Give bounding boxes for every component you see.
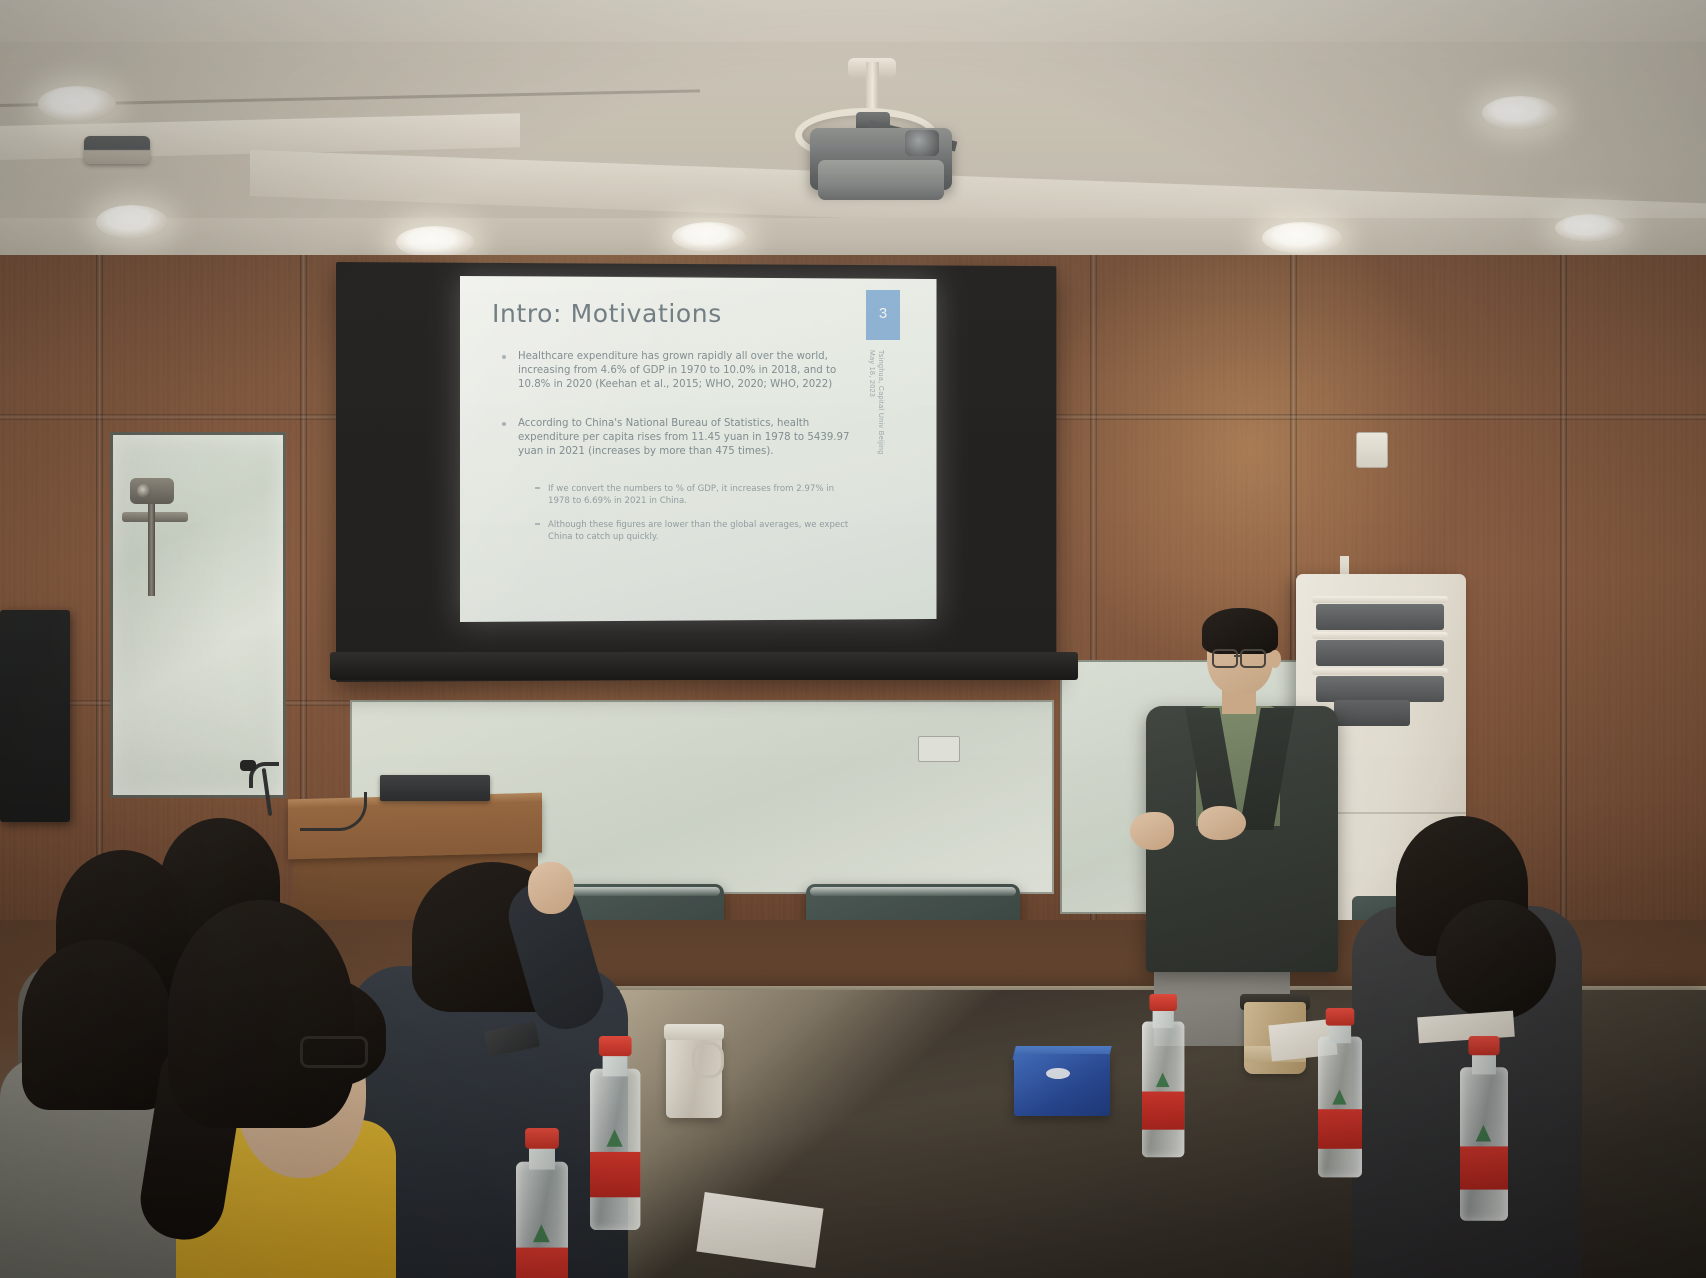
glasses-icon — [300, 1036, 368, 1068]
lectern-monitor — [380, 775, 490, 801]
conference-room-photo: Intro: Motivations 3 Tsinghua, Capital U… — [0, 0, 1706, 1278]
slide-sub-bullet: Although these figures are lower than th… — [548, 519, 850, 543]
glasses-bridge — [1234, 655, 1242, 657]
smoke-detector-icon — [84, 136, 150, 164]
bottle-cap — [1149, 994, 1177, 1011]
ac-vent-lip — [1312, 632, 1448, 639]
loudspeaker — [0, 610, 70, 822]
ac-vent — [1316, 676, 1444, 702]
bottle-cap — [525, 1128, 559, 1149]
glasses-icon — [1212, 649, 1238, 668]
ceiling-light-icon — [38, 86, 116, 122]
bottle-body — [1318, 1037, 1362, 1178]
ac-vent-lip — [1312, 668, 1448, 675]
slide-bullet: Healthcare expenditure has grown rapidly… — [518, 350, 850, 393]
ceiling-soffit-front — [0, 0, 1706, 42]
bottle-label — [590, 1152, 640, 1197]
bottle-label — [1460, 1146, 1508, 1189]
presenter-ear — [1269, 650, 1281, 668]
bottle-cap — [599, 1036, 632, 1056]
wall-plate-icon — [918, 736, 960, 762]
bottle-cap — [1326, 1008, 1355, 1026]
camera-base — [122, 512, 188, 522]
ac-vent-lip — [1312, 596, 1448, 603]
ceiling-light-icon — [396, 226, 474, 258]
audience-hand — [528, 862, 574, 914]
chair-highlight — [560, 887, 720, 896]
camera-lens-icon — [137, 484, 151, 498]
audience-hair — [168, 900, 354, 1128]
slide-number: 3 — [866, 305, 900, 322]
slide-bullet: According to China's National Bureau of … — [518, 417, 850, 460]
thermos-handle — [692, 1042, 724, 1078]
ceiling-light-icon — [1482, 96, 1558, 130]
slide-side-text: Tsinghua, Capital Univ Beijing May 18, 2… — [869, 350, 885, 470]
ceiling-light-icon — [1262, 222, 1342, 254]
presenter-hair — [1202, 608, 1278, 654]
presenter-hand — [1198, 806, 1246, 840]
bottle-cap — [1468, 1036, 1499, 1055]
slide-bullet-list: Healthcare expenditure has grown rapidly… — [518, 350, 850, 555]
bullet-spacer — [518, 473, 850, 483]
wall-panel-seam — [96, 255, 103, 955]
ceiling-light-icon — [96, 205, 168, 239]
slide-sub-bullet: If we convert the numbers to % of GDP, i… — [548, 483, 850, 507]
projector-body-lower — [818, 160, 944, 200]
glasses-icon — [1240, 649, 1266, 668]
bottle-label — [516, 1248, 568, 1278]
tissue-box-opening — [1046, 1068, 1070, 1079]
bottle-body — [1460, 1067, 1508, 1221]
bullet-spacer — [518, 407, 850, 417]
slide-title: Intro: Motivations — [492, 299, 852, 328]
ac-vent — [1316, 640, 1444, 666]
projector-lens-icon — [905, 130, 939, 156]
projection-screen-bottom-bar — [330, 652, 1078, 680]
wall-socket-icon — [1356, 432, 1388, 468]
ceiling-light-icon — [1555, 214, 1625, 242]
microphone-icon — [240, 760, 256, 771]
ac-vent — [1316, 604, 1444, 630]
ceiling-light-icon — [672, 222, 746, 252]
wall-panel-seam — [1560, 255, 1567, 955]
camera-pole — [148, 500, 155, 596]
audience-hair — [22, 940, 172, 1110]
audience-hair — [1436, 900, 1556, 1020]
bottle-label — [1142, 1092, 1184, 1130]
presenter-hand — [1130, 812, 1174, 850]
bottle-label — [1318, 1109, 1362, 1149]
bottle-body — [1142, 1022, 1184, 1158]
thermos-lid — [664, 1024, 724, 1040]
bottle-body — [590, 1069, 640, 1230]
tissue-box — [1014, 1054, 1110, 1116]
chair-highlight — [810, 887, 1016, 896]
slide-number-badge: 3 — [866, 290, 900, 340]
ac-display-panel[interactable] — [1334, 700, 1410, 726]
